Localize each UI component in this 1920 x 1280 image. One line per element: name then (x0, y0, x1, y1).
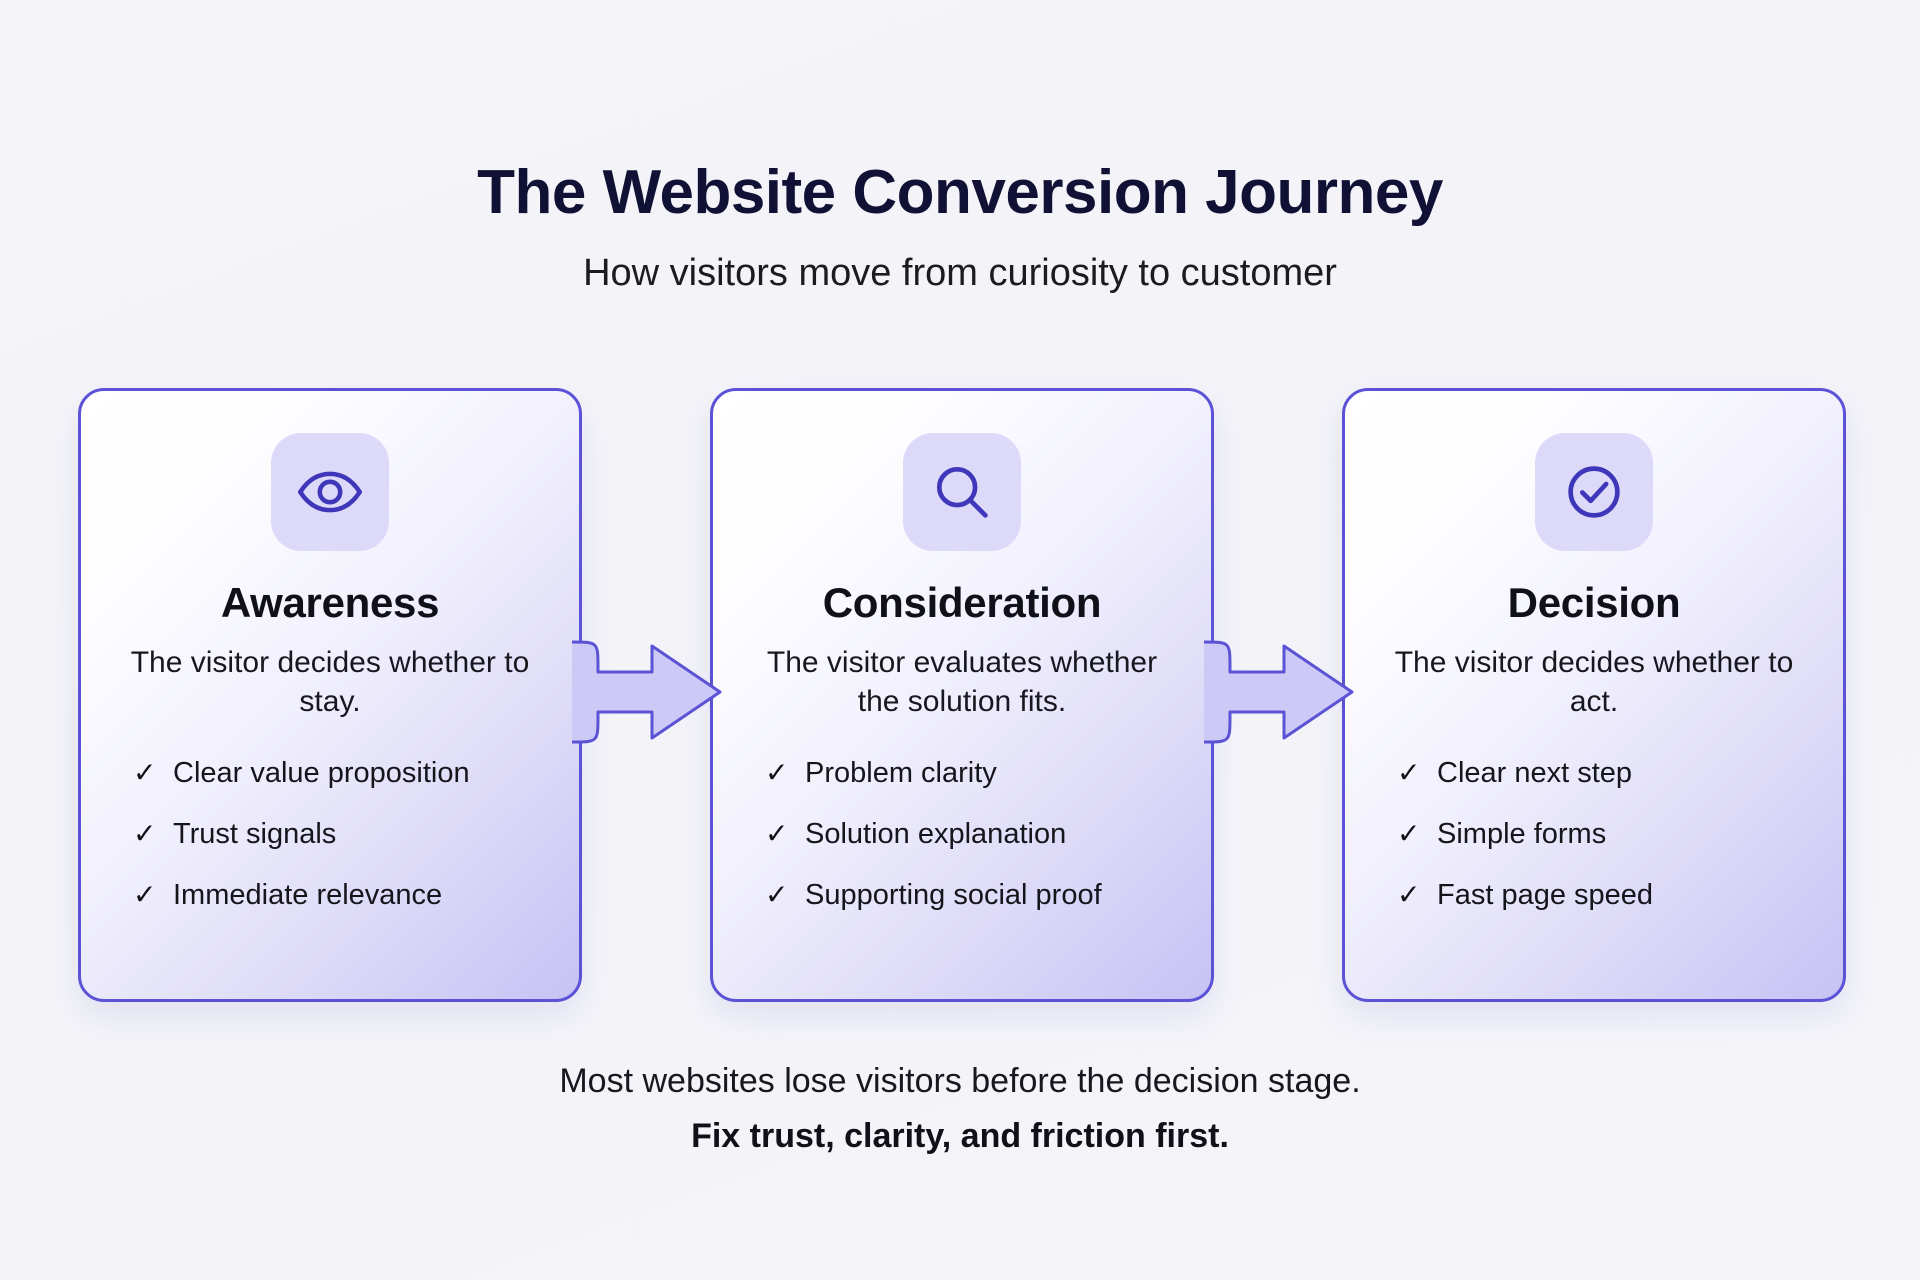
stage-card-awareness[interactable]: Awareness The visitor decides whether to… (78, 388, 582, 1002)
stage-description-consideration: The visitor evaluates whether the soluti… (762, 643, 1162, 721)
list-item-label: Clear value proposition (173, 759, 553, 788)
check-icon: ✓ (1397, 820, 1437, 848)
list-item: ✓ Immediate relevance (133, 881, 553, 910)
check-icon: ✓ (1397, 881, 1437, 909)
stage-title-decision: Decision (1345, 579, 1843, 627)
page-subtitle: How visitors move from curiosity to cust… (0, 251, 1920, 297)
list-item: ✓ Simple forms (1397, 820, 1817, 849)
list-item: ✓ Clear value proposition (133, 759, 553, 788)
list-item: ✓ Solution explanation (765, 820, 1185, 849)
check-icon: ✓ (1397, 759, 1437, 787)
check-icon: ✓ (133, 881, 173, 909)
list-item-label: Trust signals (173, 820, 553, 849)
list-item: ✓ Clear next step (1397, 759, 1817, 788)
stage-card-consideration[interactable]: Consideration The visitor evaluates whet… (710, 388, 1214, 1002)
stage-cards-row: Awareness The visitor decides whether to… (78, 388, 1846, 1002)
search-icon (929, 459, 995, 525)
check-icon: ✓ (133, 759, 173, 787)
list-item-label: Problem clarity (805, 759, 1185, 788)
stage-title-awareness: Awareness (81, 579, 579, 627)
stage-checklist-decision: ✓ Clear next step ✓ Simple forms ✓ Fast … (1397, 759, 1817, 942)
list-item: ✓ Supporting social proof (765, 881, 1185, 910)
check-icon: ✓ (133, 820, 173, 848)
check-circle-icon (1561, 459, 1627, 525)
list-item: ✓ Trust signals (133, 820, 553, 849)
icon-badge-consideration (903, 433, 1021, 551)
list-item: ✓ Fast page speed (1397, 881, 1817, 910)
list-item-label: Immediate relevance (173, 881, 553, 910)
list-item-label: Solution explanation (805, 820, 1185, 849)
footer-callout: Fix trust, clarity, and friction first. (0, 1115, 1920, 1158)
stage-card-decision[interactable]: Decision The visitor decides whether to … (1342, 388, 1846, 1002)
footer-note: Most websites lose visitors before the d… (0, 1060, 1920, 1103)
stage-checklist-awareness: ✓ Clear value proposition ✓ Trust signal… (133, 759, 553, 942)
icon-badge-awareness (271, 433, 389, 551)
check-icon: ✓ (765, 759, 805, 787)
stage-checklist-consideration: ✓ Problem clarity ✓ Solution explanation… (765, 759, 1185, 942)
list-item-label: Simple forms (1437, 820, 1817, 849)
list-item-label: Fast page speed (1437, 881, 1817, 910)
list-item-label: Supporting social proof (805, 881, 1185, 910)
page-title: The Website Conversion Journey (0, 160, 1920, 227)
list-item: ✓ Problem clarity (765, 759, 1185, 788)
infographic-canvas: The Website Conversion Journey How visit… (0, 0, 1920, 1280)
stage-title-consideration: Consideration (713, 579, 1211, 627)
stage-description-awareness: The visitor decides whether to stay. (130, 643, 530, 721)
list-item-label: Clear next step (1437, 759, 1817, 788)
icon-badge-decision (1535, 433, 1653, 551)
stage-description-decision: The visitor decides whether to act. (1394, 643, 1794, 721)
eye-icon (296, 458, 364, 526)
footer: Most websites lose visitors before the d… (0, 1060, 1920, 1157)
check-icon: ✓ (765, 820, 805, 848)
check-icon: ✓ (765, 881, 805, 909)
header: The Website Conversion Journey How visit… (0, 160, 1920, 297)
